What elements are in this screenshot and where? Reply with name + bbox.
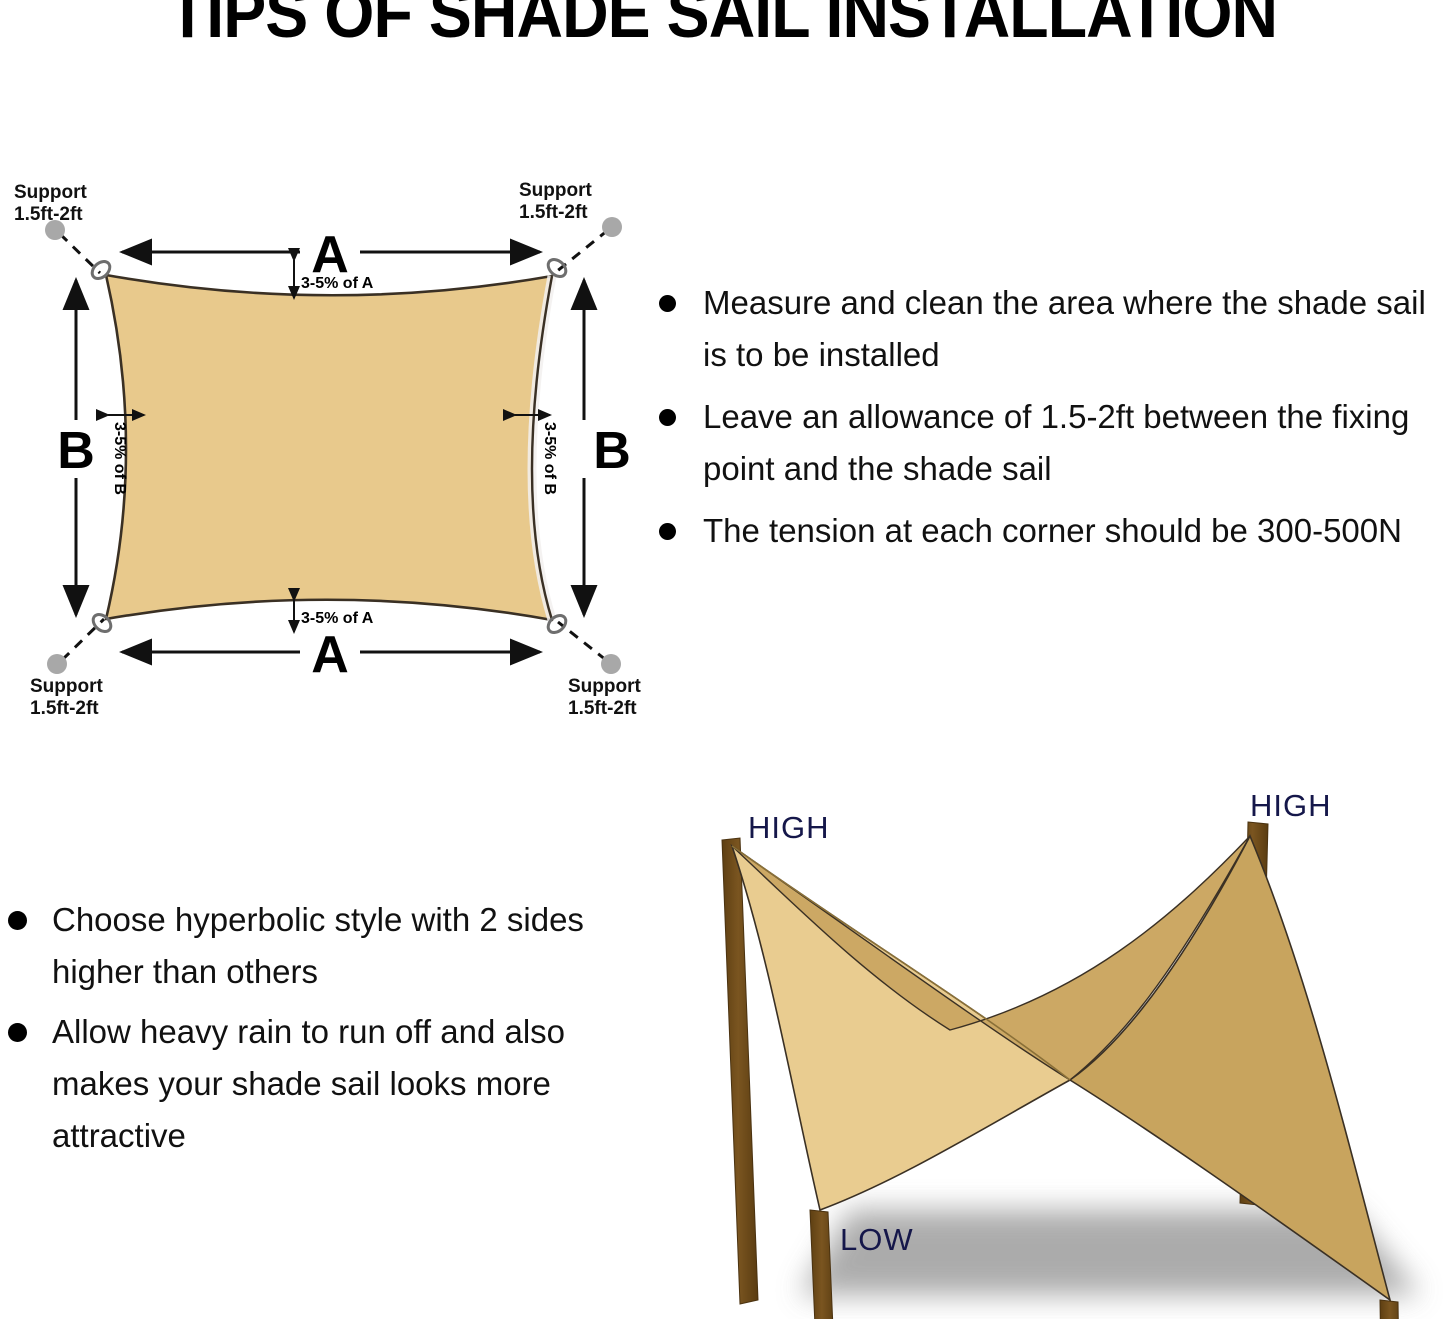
bullet-dot-icon [8,1023,27,1042]
support-label-top-right-line2: 1.5ft-2ft [519,202,588,223]
label-high-left: HIGH [748,810,830,845]
label-high-right: HIGH [1250,788,1332,823]
label-pct-a-top: 3-5% of A [301,275,374,292]
tip-item: Allow heavy rain to run off and also mak… [2,1006,632,1162]
label-b-right: B [593,422,631,480]
bullet-dot-icon [659,295,676,312]
label-pct-a-bottom: 3-5% of A [301,610,374,627]
infographic-page: TIPS OF SHADE SAIL INSTALLATION [0,0,1445,1319]
tip-item: Choose hyperbolic style with 2 sides hig… [2,894,632,998]
label-low-left: LOW [840,1222,914,1257]
installation-tips-bottom: Choose hyperbolic style with 2 sides hig… [2,894,632,1170]
tip-text: Leave an allowance of 1.5-2ft between th… [703,398,1409,487]
page-title: TIPS OF SHADE SAIL INSTALLATION [58,0,1387,48]
bullet-dot-icon [8,911,27,930]
label-pct-b-left: 3-5% of B [111,422,128,495]
support-label-top-left-line1: Support [14,182,87,203]
support-label-bottom-right-line2: 1.5ft-2ft [568,698,637,719]
support-dot-bottom-right [601,654,621,674]
support-label-bottom-left: Support 1.5ft-2ft [30,676,103,719]
rectangular-sail-diagram: A 3-5% of A A 3-5% of A B [0,160,660,730]
label-b-left: B [57,422,95,480]
bullet-dot-icon [659,409,676,426]
support-dot-bottom-left [47,654,67,674]
support-dot-top-right [602,217,622,237]
tip-text: Choose hyperbolic style with 2 sides hig… [52,901,584,990]
support-label-top-left: Support 1.5ft-2ft [14,182,87,225]
post-low-right [1380,1300,1402,1319]
tip-item: Measure and clean the area where the sha… [651,277,1445,381]
shade-sail-shape [106,275,552,620]
tip-text: The tension at each corner should be 300… [703,512,1402,549]
support-label-bottom-left-line2: 1.5ft-2ft [30,698,99,719]
support-label-bottom-right-line1: Support [568,676,641,697]
support-label-top-right-line1: Support [519,180,592,201]
tip-item: The tension at each corner should be 300… [651,505,1445,557]
installation-tips-top: Measure and clean the area where the sha… [651,277,1445,567]
label-a-bottom: A [311,626,349,684]
label-pct-b-right: 3-5% of B [541,422,558,495]
support-label-top-right: Support 1.5ft-2ft [519,180,592,223]
tip-text: Measure and clean the area where the sha… [703,284,1426,373]
hyperbolic-sail-diagram: HIGH HIGH LOW LOW [650,780,1445,1319]
tip-item: Leave an allowance of 1.5-2ft between th… [651,391,1445,495]
support-label-bottom-right: Support 1.5ft-2ft [568,676,641,719]
tip-text: Allow heavy rain to run off and also mak… [52,1013,565,1154]
support-label-top-left-line2: 1.5ft-2ft [14,204,83,225]
support-label-bottom-left-line1: Support [30,676,103,697]
bullet-dot-icon [659,523,676,540]
